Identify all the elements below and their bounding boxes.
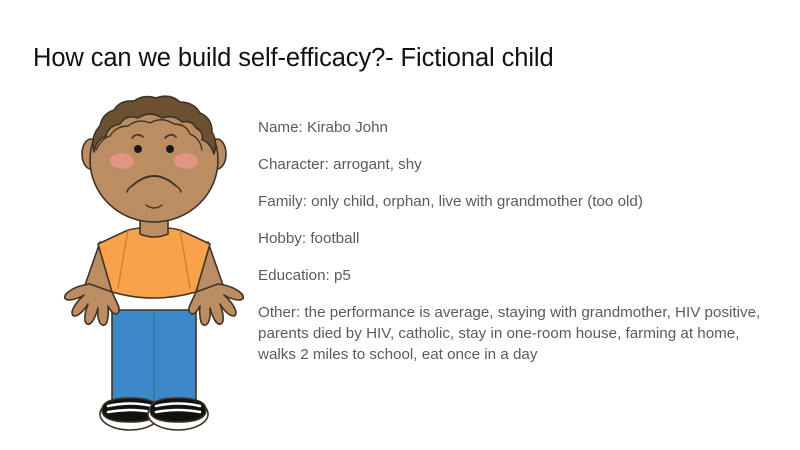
detail-family: Family: only child, orphan, live with gr…: [258, 191, 786, 212]
right-cheek-blush: [174, 153, 198, 169]
detail-other: Other: the performance is average, stayi…: [258, 302, 778, 365]
left-eye: [134, 145, 142, 153]
detail-character: Character: arrogant, shy: [258, 154, 786, 175]
right-shoe: [148, 398, 208, 430]
detail-education: Education: p5: [258, 265, 786, 286]
right-eye: [166, 145, 174, 153]
slide-canvas: How can we build self-efficacy?- Fiction…: [0, 0, 800, 450]
cartoon-boy-svg: [44, 92, 264, 440]
detail-hobby: Hobby: football: [258, 228, 786, 249]
detail-name: Name: Kirabo John: [258, 117, 786, 138]
left-cheek-blush: [110, 153, 134, 169]
illustration-cartoon-sad-boy: [44, 92, 264, 440]
page-title: How can we build self-efficacy?- Fiction…: [33, 42, 773, 74]
child-profile-details: Name: Kirabo John Character: arrogant, s…: [258, 117, 786, 365]
